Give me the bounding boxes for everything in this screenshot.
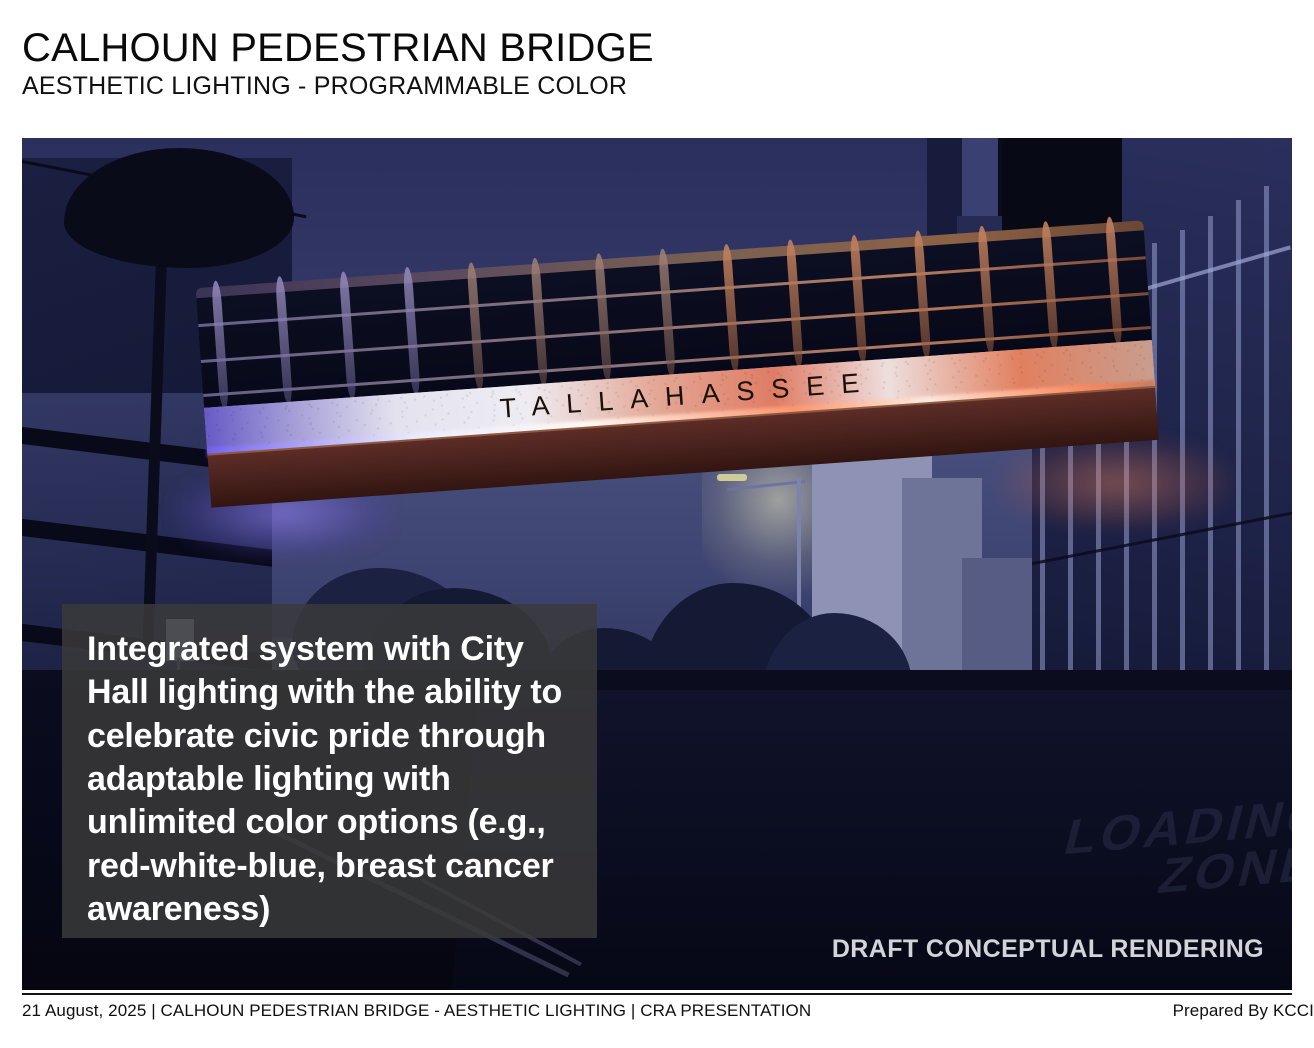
bridge-light-spill-warm [1002,438,1232,528]
footer-divider [22,993,1292,995]
slide-header: CALHOUN PEDESTRIAN BRIDGE AESTHETIC LIGH… [22,28,1292,99]
footer-right-text: Prepared By KCCI [1173,1001,1314,1021]
footer-left-text: 21 August, 2025 | CALHOUN PEDESTRIAN BRI… [22,1001,811,1021]
loading-zone-marking: LOADING ZONE [1048,792,1292,909]
palm-tree-fronds [64,148,294,268]
caption-text: Integrated system with City Hall lightin… [87,628,589,931]
draft-watermark: DRAFT CONCEPTUAL RENDERING [832,935,1264,964]
conceptual-rendering-image: TALLAHASSEE LOADING ZONE Integrated syst… [22,138,1292,990]
page-title: CALHOUN PEDESTRIAN BRIDGE [22,28,1292,68]
slide-footer: 21 August, 2025 | CALHOUN PEDESTRIAN BRI… [22,1001,1314,1031]
streetlight-head [717,474,747,481]
page-subtitle: AESTHETIC LIGHTING - PROGRAMMABLE COLOR [22,74,1292,99]
caption-overlay-box: Integrated system with City Hall lightin… [62,604,597,938]
